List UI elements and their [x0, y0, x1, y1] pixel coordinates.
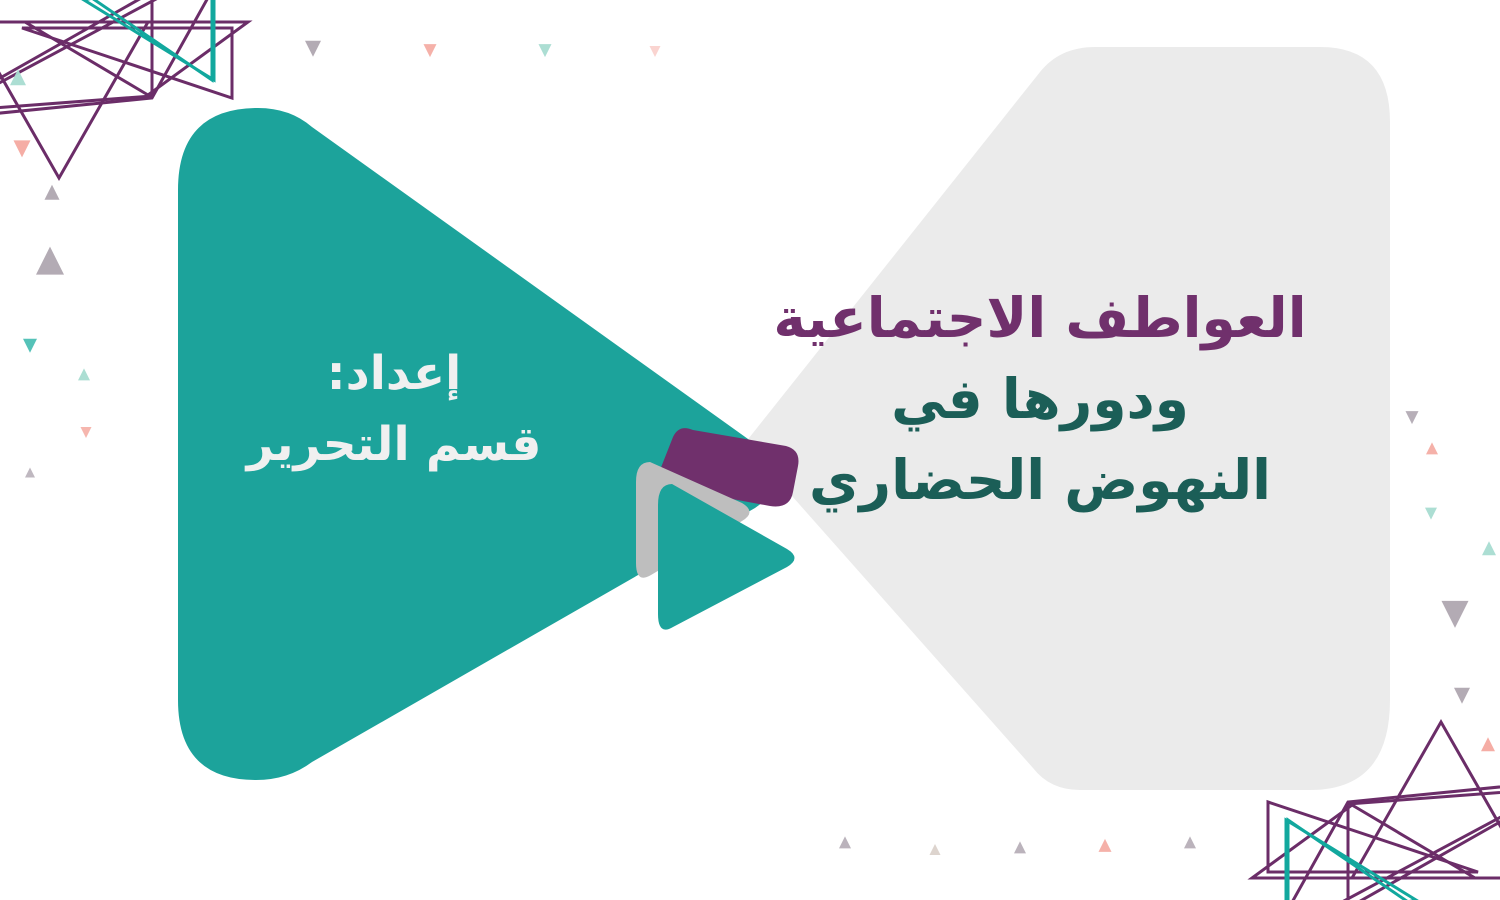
scatter-triangle-7 — [81, 427, 92, 438]
scatter-triangle-18 — [1454, 688, 1470, 704]
scatter-triangle-19 — [1481, 737, 1495, 751]
scatter-triangle-22 — [1014, 841, 1026, 853]
scatter-triangle-11 — [539, 44, 552, 57]
scatter-triangle-20 — [839, 836, 851, 848]
scatter-triangle-6 — [78, 368, 90, 380]
scatter-triangle-21 — [930, 844, 941, 855]
scatter-triangle-10 — [424, 44, 437, 57]
scatter-triangle-14 — [1426, 442, 1438, 454]
scatter-triangle-13 — [1406, 411, 1419, 424]
scatter-triangle-12 — [650, 46, 661, 57]
scatter-triangle-4 — [36, 247, 64, 275]
scatter-triangle-9 — [305, 41, 321, 57]
scatter-triangle-3 — [45, 185, 60, 200]
scatter-triangle-5 — [23, 339, 37, 353]
scatter-triangle-layer — [0, 0, 1500, 900]
scatter-triangle-23 — [1099, 839, 1112, 852]
scatter-triangle-16 — [1482, 541, 1496, 555]
scatter-triangle-15 — [1425, 508, 1437, 520]
scatter-triangle-8 — [25, 468, 35, 478]
slide-canvas: العواطف الاجتماعية ودورها في النهوض الحض… — [0, 0, 1500, 900]
scatter-triangle-24 — [1184, 836, 1196, 848]
scatter-triangle-17 — [1442, 601, 1469, 628]
scatter-triangle-2 — [14, 140, 31, 157]
scatter-triangles — [10, 41, 1496, 855]
scatter-triangle-1 — [10, 69, 26, 85]
